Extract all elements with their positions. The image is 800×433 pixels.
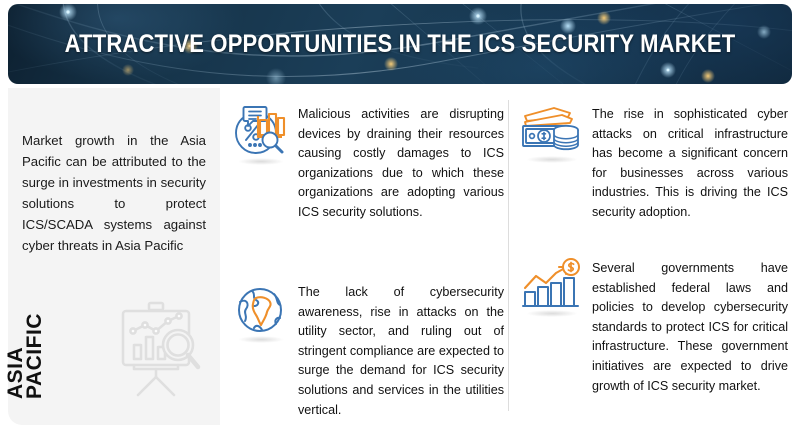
region-summary-paragraph: Market growth in the Asia Pacific can be… (22, 130, 206, 256)
icon-shadow (526, 156, 578, 163)
money-cash-coins-icon (520, 102, 584, 158)
money-cash-coins-icon-wrapper (520, 102, 584, 158)
infographic-page: ATTRACTIVE OPPORTUNITIES IN THE ICS SECU… (0, 0, 800, 433)
insight-text: Malicious activities are disrupting devi… (298, 102, 504, 223)
insight-text: Several governments have established fed… (592, 256, 788, 396)
insight-paragraph: The rise in sophisticated cyber attacks … (592, 105, 788, 223)
insight-paragraph: Several governments have established fed… (592, 259, 788, 396)
region-summary-text: Market growth in the Asia Pacific can be… (22, 130, 206, 256)
insight-paragraph: Malicious activities are disrupting devi… (298, 105, 504, 223)
insight-card-government-initiatives: Several governments have established fed… (520, 256, 788, 396)
header-banner: ATTRACTIVE OPPORTUNITIES IN THE ICS SECU… (8, 4, 792, 84)
growth-chart-dollar-icon-wrapper (520, 256, 584, 312)
icon-shadow (526, 310, 578, 317)
insights-grid: Malicious activities are disrupting devi… (222, 88, 792, 425)
presentation-chart-analysis-icon (104, 297, 208, 401)
analytics-search-icon (232, 102, 290, 160)
region-branding: ASIA PACIFIC (8, 277, 220, 407)
column-divider (508, 100, 509, 411)
insight-card-cybersecurity-awareness: The lack of cybersecurity awareness, ris… (232, 280, 504, 420)
globe-icon-wrapper (232, 280, 290, 338)
icon-shadow (238, 158, 284, 165)
region-name-text: ASIA PACIFIC (6, 313, 44, 399)
insight-card-malicious-activities: Malicious activities are disrupting devi… (232, 102, 504, 223)
insight-paragraph: The lack of cybersecurity awareness, ris… (298, 283, 504, 420)
globe-icon (232, 280, 290, 338)
insight-text: The lack of cybersecurity awareness, ris… (298, 280, 504, 420)
insight-text: The rise in sophisticated cyber attacks … (592, 102, 788, 223)
analytics-search-icon-wrapper (232, 102, 290, 160)
page-title: ATTRACTIVE OPPORTUNITIES IN THE ICS SECU… (55, 30, 745, 59)
region-name: ASIA PACIFIC (8, 279, 42, 399)
insight-card-sophisticated-cyber-attacks: The rise in sophisticated cyber attacks … (520, 102, 788, 223)
growth-chart-dollar-icon (520, 256, 584, 312)
icon-shadow (238, 336, 284, 343)
region-summary-panel: Market growth in the Asia Pacific can be… (8, 88, 220, 425)
